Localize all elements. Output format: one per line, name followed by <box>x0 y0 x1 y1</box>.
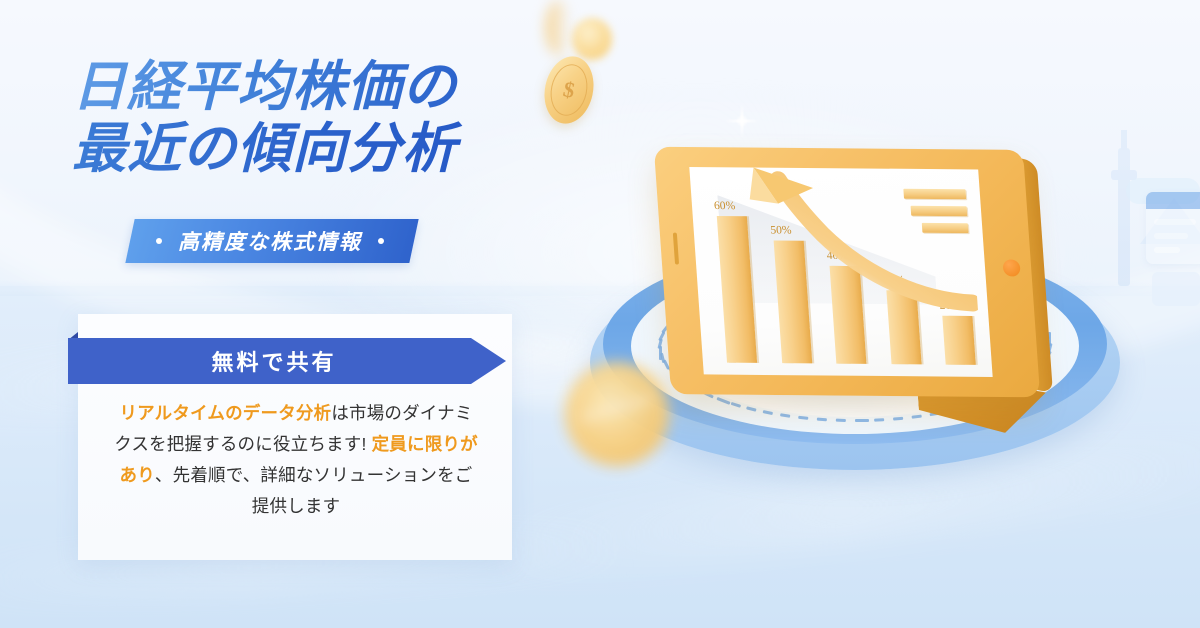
chart-legend <box>689 167 978 170</box>
dial-tick <box>836 419 846 422</box>
chart-bar-label: 20% <box>939 300 961 312</box>
subtitle-badge-label: 高精度な株式情報 <box>178 226 362 256</box>
legend-bar <box>922 223 969 233</box>
dial-tick <box>763 411 773 415</box>
legend-bar <box>903 189 966 200</box>
chart-bar <box>942 316 976 365</box>
dial-tick <box>893 417 903 420</box>
tablet-body: 60%50%40%30%20% <box>654 147 1040 398</box>
tablet-device: 60%50%40%30%20% <box>654 147 1040 398</box>
dial-tick <box>798 416 808 420</box>
sparkle-icon <box>725 104 759 138</box>
chart-bar <box>830 266 867 364</box>
dial-tick <box>780 414 790 418</box>
dial-tick <box>746 407 756 412</box>
coin-motion-blur <box>545 0 571 56</box>
chart-bar <box>886 291 921 365</box>
card-body-text: リアルタイムのデータ分析は市場のダイナミクスを把握するのに役立ちます! 定員に限… <box>112 398 480 522</box>
bullet-dot-icon <box>156 238 162 244</box>
chart-bar-label: 50% <box>770 225 792 237</box>
subtitle-badge: 高精度な株式情報 <box>125 219 418 263</box>
dial-tick <box>912 415 922 419</box>
coin-icon <box>565 362 669 466</box>
share-ribbon-label: 無料で共有 <box>211 345 362 377</box>
dial-tick <box>731 402 741 407</box>
coin-icon <box>572 18 612 60</box>
dial-tick <box>855 420 869 423</box>
bullet-dot-icon <box>378 238 384 244</box>
chart-bar-label: 40% <box>826 250 848 262</box>
banner-stage: 日経平均株価の 最近の傾向分析 高精度な株式情報 無料で共有 リアルタイムのデー… <box>0 0 1200 628</box>
dial-tick <box>817 418 827 421</box>
chart-bar <box>717 216 757 363</box>
bar-chart: 60%50%40%30%20% <box>715 191 976 365</box>
legend-bar <box>911 206 968 216</box>
tablet-screen: 60%50%40%30%20% <box>689 167 992 377</box>
tablet-home-button[interactable] <box>1002 259 1020 276</box>
body-highlight-1: リアルタイムのデータ分析 <box>119 403 331 423</box>
chart-bar-label: 30% <box>883 275 905 287</box>
share-ribbon[interactable]: 無料で共有 <box>68 338 506 384</box>
chart-bar <box>773 241 812 364</box>
chart-bar-label: 60% <box>714 200 736 212</box>
body-plain-2: 、先着順で、詳細なソリューションをご提供します <box>155 465 473 516</box>
tablet-speaker-icon <box>673 233 679 265</box>
hero-illustration: 60%50%40%30%20% <box>545 0 1200 628</box>
coin-dollar-icon: $ <box>538 52 599 128</box>
dial-tick <box>874 419 884 422</box>
